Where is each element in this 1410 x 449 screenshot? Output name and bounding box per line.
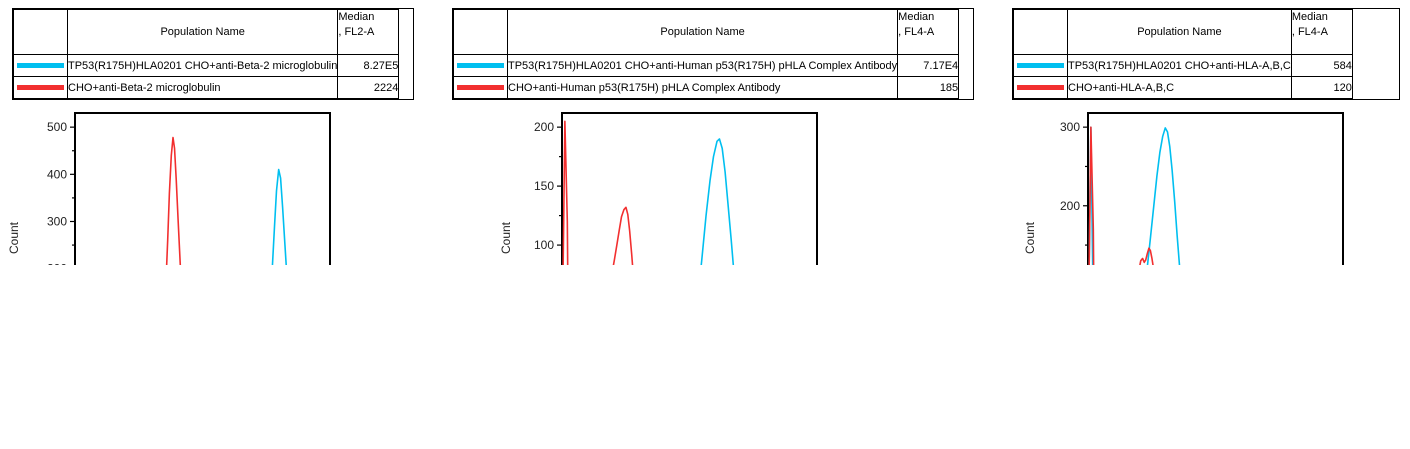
series-color-swatch — [17, 85, 64, 90]
y-axis-label: Count — [1023, 221, 1037, 254]
legend-header-median: Median , FL4-A — [898, 10, 959, 55]
legend-row[interactable]: CHO+anti-Human p53(R175H) pHLA Complex A… — [454, 77, 959, 99]
legend-row[interactable]: TP53(R175H)HLA0201 CHO+anti-Beta-2 micro… — [14, 55, 399, 77]
legend-table-1: Population Name Median , FL2-A TP53(R175… — [12, 8, 414, 100]
legend-header-median-line2: , FL4-A — [898, 25, 958, 40]
legend-population-name: TP53(R175H)HLA0201 CHO+anti-HLA-A,B,C — [1068, 55, 1292, 77]
y-tick-label: 300 — [47, 214, 67, 228]
panel-1: Population Name Median , FL2-A TP53(R175… — [0, 0, 440, 449]
legend-population-name: CHO+anti-Human p53(R175H) pHLA Complex A… — [508, 77, 898, 99]
histogram-curve — [1088, 127, 1343, 265]
y-tick-label: 400 — [47, 167, 67, 181]
legend-swatch-cell — [1014, 77, 1068, 99]
legend-header-row: Population Name Median , FL4-A — [1014, 10, 1353, 55]
legend-header-median-line1: Median — [1292, 11, 1328, 23]
series-color-swatch — [457, 63, 504, 68]
legend-row[interactable]: CHO+anti-HLA-A,B,C 120 — [1014, 77, 1353, 99]
y-tick-label: 200 — [534, 120, 554, 134]
plot-svg: 0100200300Count101102103104105106107FL4-… — [1018, 105, 1410, 265]
legend-header-swatch-blank — [14, 10, 68, 55]
legend-table: Population Name Median , FL2-A TP53(R175… — [13, 9, 399, 99]
legend-row[interactable]: TP53(R175H)HLA0201 CHO+anti-Human p53(R1… — [454, 55, 959, 77]
figure-canvas: Population Name Median , FL2-A TP53(R175… — [0, 0, 1410, 449]
legend-header-median-line2: , FL2-A — [338, 25, 398, 40]
y-tick-label: 200 — [47, 262, 67, 265]
series-color-swatch — [457, 85, 504, 90]
legend-header-swatch-blank — [454, 10, 508, 55]
legend-header-swatch-blank — [1014, 10, 1068, 55]
legend-table-2: Population Name Median , FL4-A TP53(R175… — [452, 8, 974, 100]
panel-3: Population Name Median , FL4-A TP53(R175… — [1012, 0, 1410, 449]
legend-header-population: Population Name — [68, 10, 338, 55]
legend-header-median-line1: Median — [898, 11, 934, 23]
histogram-plot-2: 050100150200Count101102103104105106107FL… — [500, 105, 900, 265]
legend-population-name: CHO+anti-Beta-2 microglobulin — [68, 77, 338, 99]
legend-swatch-cell — [1014, 55, 1068, 77]
series-color-swatch — [17, 63, 64, 68]
legend-median-value: 2224 — [338, 77, 399, 99]
legend-header-median-line2: , FL4-A — [1292, 25, 1352, 40]
legend-median-value: 120 — [1291, 77, 1352, 99]
y-axis-label: Count — [500, 221, 513, 254]
legend-swatch-cell — [454, 77, 508, 99]
histogram-plot-3: 0100200300Count101102103104105106107FL4-… — [1018, 105, 1410, 265]
legend-median-value: 185 — [898, 77, 959, 99]
histogram-curve — [562, 121, 817, 265]
legend-median-value: 584 — [1291, 55, 1352, 77]
y-axis-label: Count — [7, 221, 21, 254]
legend-header-row: Population Name Median , FL2-A — [14, 10, 399, 55]
legend-table: Population Name Median , FL4-A TP53(R175… — [453, 9, 959, 99]
histogram-curve — [75, 170, 330, 265]
legend-median-value: 7.17E4 — [898, 55, 959, 77]
histogram-curve — [1088, 127, 1343, 265]
histogram-plot-1: 0100200300400500Count1011021031041051061… — [0, 105, 400, 265]
legend-population-name: TP53(R175H)HLA0201 CHO+anti-Beta-2 micro… — [68, 55, 338, 77]
legend-population-name: TP53(R175H)HLA0201 CHO+anti-Human p53(R1… — [508, 55, 898, 77]
y-tick-label: 500 — [47, 120, 67, 134]
legend-header-row: Population Name Median , FL4-A — [454, 10, 959, 55]
legend-swatch-cell — [14, 55, 68, 77]
y-tick-label: 300 — [1060, 120, 1080, 134]
panel-2: Population Name Median , FL4-A TP53(R175… — [452, 0, 972, 449]
y-tick-label: 200 — [1060, 199, 1080, 213]
histogram-curve — [75, 138, 330, 265]
legend-row[interactable]: CHO+anti-Beta-2 microglobulin 2224 — [14, 77, 399, 99]
series-color-swatch — [1017, 85, 1064, 90]
legend-table: Population Name Median , FL4-A TP53(R175… — [1013, 9, 1353, 99]
legend-header-median-line1: Median — [338, 11, 374, 23]
legend-swatch-cell — [14, 77, 68, 99]
legend-row[interactable]: TP53(R175H)HLA0201 CHO+anti-HLA-A,B,C 58… — [1014, 55, 1353, 77]
legend-header-population: Population Name — [1068, 10, 1292, 55]
legend-table-3: Population Name Median , FL4-A TP53(R175… — [1012, 8, 1400, 100]
legend-population-name: CHO+anti-HLA-A,B,C — [1068, 77, 1292, 99]
histogram-curve — [562, 139, 817, 265]
y-tick-label: 100 — [534, 238, 554, 252]
series-color-swatch — [1017, 63, 1064, 68]
plot-svg: 050100150200Count101102103104105106107FL… — [500, 105, 900, 265]
legend-swatch-cell — [454, 55, 508, 77]
y-tick-label: 150 — [534, 179, 554, 193]
legend-header-population: Population Name — [508, 10, 898, 55]
legend-header-median: Median , FL4-A — [1291, 10, 1352, 55]
legend-header-median: Median , FL2-A — [338, 10, 399, 55]
legend-median-value: 8.27E5 — [338, 55, 399, 77]
plot-svg: 0100200300400500Count1011021031041051061… — [0, 105, 400, 265]
